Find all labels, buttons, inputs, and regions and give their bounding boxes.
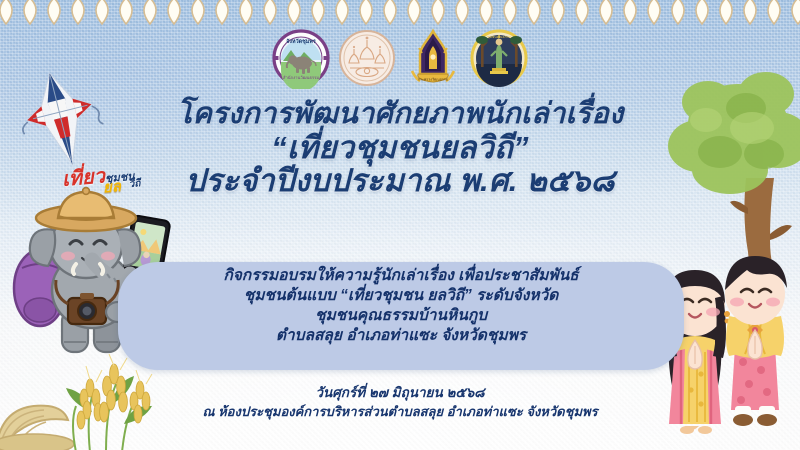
svg-text:สำนักงานวัฒนธรรม: สำนักงานวัฒนธรรม [283,75,320,80]
brand-word-3: ยล [102,174,122,199]
ministry-culture-seal-icon [338,27,396,89]
brand-lockup: เที่ยวชุมชน ยล วิถี [61,157,136,195]
event-poster: จังหวัดชุมพร สำนักงานวัฒนธรรม [0,0,800,450]
description-line-4: ตำบลสลุย อำเภอท่าแซะ จังหวัดชุมพร [118,326,684,346]
event-date: วันศุกร์ที่ ๒๗ มิถุนายน ๒๕๖๘ [0,384,800,403]
deity-shrine-seal-icon: ชุมชนคุณธรรม [470,27,528,89]
svg-text:กระทรวงวัฒนธรรม: กระทรวงวัฒนธรรม [418,78,449,82]
lotus-petal-border [0,0,800,26]
event-details: วันศุกร์ที่ ๒๗ มิถุนายน ๒๕๖๘ ณ ห้องประชุ… [0,384,800,421]
event-venue: ณ ห้องประชุมองค์การบริหารส่วนตำบลสลุย อำ… [0,403,800,421]
chumphon-provincial-seal-icon: จังหวัดชุมพร สำนักงานวัฒนธรรม [272,27,330,89]
description-line-2: ชุมชนต้นแบบ “เที่ยวชุมชน ยลวิถี” ระดับจั… [118,286,684,306]
logo-row: จังหวัดชุมพร สำนักงานวัฒนธรรม [0,27,800,97]
ministry-emblem-icon: กระทรวงวัฒนธรรม [404,27,462,89]
description-text: กิจกรรมอบรมให้ความรู้นักเล่าเรื่อง เพื่อ… [118,266,684,347]
title-line-1: โครงการพัฒนาศักยภาพนักเล่าเรื่อง [0,100,800,130]
description-line-3: ชุมชนคุณธรรมบ้านหินกูบ [118,306,684,326]
description-line-1: กิจกรรมอบรมให้ความรู้นักเล่าเรื่อง เพื่อ… [118,266,684,286]
svg-text:จังหวัดชุมพร: จังหวัดชุมพร [286,38,316,45]
brand-word-1: เที่ยว [61,165,106,191]
brand-word-4: วิถี [128,176,141,192]
